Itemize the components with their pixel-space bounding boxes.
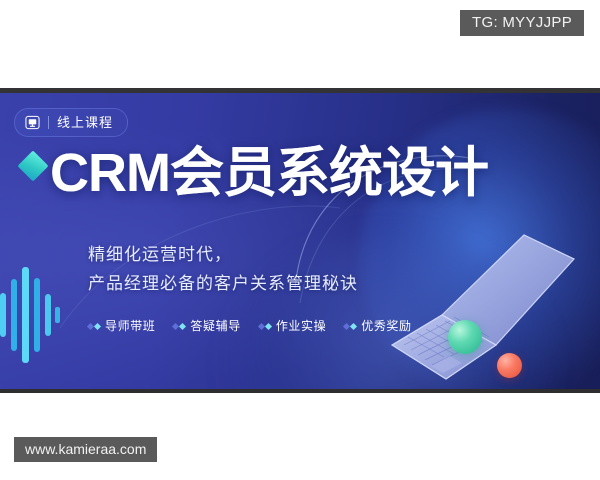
feature-tag-label: 答疑辅导 [190, 320, 240, 332]
diamond-bullet-icon [173, 324, 185, 329]
feature-tag-qa: 答疑辅导 [173, 320, 240, 332]
monitor-icon [25, 115, 40, 130]
banner-subtitle: 精细化运营时代， 产品经理必备的客户关系管理秘诀 [88, 240, 358, 298]
feature-tag-label: 作业实操 [276, 320, 326, 332]
banner-title-row: CRM会员系统设计 [22, 146, 488, 200]
site-watermark-text: www.kamieraa.com [25, 441, 146, 457]
online-course-badge-label: 线上课程 [57, 116, 113, 129]
subtitle-line-2: 产品经理必备的客户关系管理秘诀 [88, 269, 358, 298]
online-course-badge[interactable]: 线上课程 [14, 108, 128, 137]
diamond-bars-decoration [0, 256, 66, 374]
feature-tag-list: 导师带班 答疑辅导 作业实操 优秀奖励 [88, 320, 412, 332]
red-sphere-icon [497, 353, 522, 378]
diamond-bullet-icon [259, 324, 271, 329]
laptop-illustration [384, 197, 594, 393]
diamond-accent-icon [17, 150, 48, 181]
banner-bottom-strip [0, 389, 600, 393]
banner-top-strip [0, 88, 600, 93]
subtitle-line-1: 精细化运营时代， [88, 240, 358, 269]
feature-tag-mentor: 导师带班 [88, 320, 155, 332]
green-sphere-icon [448, 320, 482, 354]
feature-tag-practice: 作业实操 [259, 320, 326, 332]
page-title: CRM会员系统设计 [50, 146, 488, 200]
course-promo-banner: 线上课程 CRM会员系统设计 精细化运营时代， 产品经理必备的客户关系管理秘诀 … [0, 88, 600, 393]
diamond-bullet-icon [88, 324, 100, 329]
badge-divider [48, 116, 49, 129]
feature-tag-label: 导师带班 [105, 320, 155, 332]
telegram-handle-badge: TG: MYYJJPP [460, 10, 584, 36]
diamond-bullet-icon [344, 324, 356, 329]
site-watermark: www.kamieraa.com [14, 437, 157, 462]
telegram-handle-text: TG: MYYJJPP [472, 14, 572, 31]
